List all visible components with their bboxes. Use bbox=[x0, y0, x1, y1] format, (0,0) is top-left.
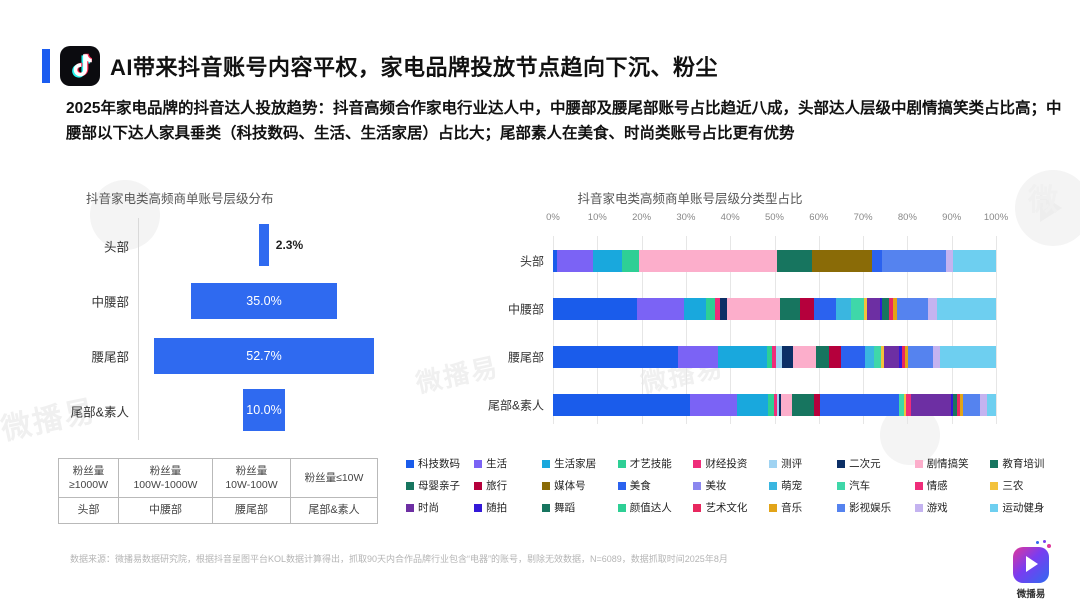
legend-swatch-icon bbox=[542, 460, 550, 468]
stacked-bar-segment[interactable] bbox=[622, 250, 640, 272]
legend-swatch-icon bbox=[837, 504, 845, 512]
left-bar-value-label: 2.3% bbox=[276, 238, 303, 252]
fans-level-cell: 头部 bbox=[59, 498, 119, 524]
legend-item[interactable]: 科技数码 bbox=[406, 456, 474, 471]
legend-label: 生活家居 bbox=[554, 456, 596, 471]
legend-item[interactable]: 旅行 bbox=[474, 478, 542, 493]
stacked-bar-segment[interactable] bbox=[928, 298, 938, 320]
stacked-bar-segment[interactable] bbox=[793, 346, 816, 368]
tiktok-logo-icon bbox=[60, 46, 100, 86]
legend-item[interactable]: 颜值达人 bbox=[618, 500, 694, 515]
fans-level-table: 粉丝量≥1000W粉丝量100W-1000W粉丝量10W-100W粉丝量≤10W… bbox=[58, 458, 378, 524]
left-bar-row: 腰尾部52.7% bbox=[139, 328, 389, 383]
left-chart: 抖音家电类高频商单账号层级分布 头部2.3%中腰部35.0%腰尾部52.7%尾部… bbox=[62, 188, 392, 448]
legend-label: 三农 bbox=[1002, 478, 1023, 493]
legend-label: 科技数码 bbox=[418, 456, 460, 471]
gridline bbox=[996, 236, 997, 424]
left-bar-category-label: 尾部&素人 bbox=[71, 401, 129, 420]
legend-swatch-icon bbox=[837, 460, 845, 468]
stacked-bar-segment[interactable] bbox=[639, 250, 776, 272]
right-chart: 抖音家电类高频商单账号层级分类型占比 0%10%20%30%40%50%60%7… bbox=[390, 188, 1050, 448]
left-bar-value-label: 10.0% bbox=[243, 403, 285, 417]
legend-swatch-icon bbox=[406, 482, 414, 490]
legend-swatch-icon bbox=[915, 504, 923, 512]
stacked-bar-segment[interactable] bbox=[911, 394, 951, 416]
legend-item[interactable]: 舞蹈 bbox=[542, 500, 618, 515]
stacked-bar-segment[interactable] bbox=[872, 250, 882, 272]
legend-item[interactable]: 汽车 bbox=[837, 478, 915, 493]
x-axis-tick-label: 40% bbox=[721, 212, 740, 223]
legend-label: 才艺技能 bbox=[630, 456, 672, 471]
legend-swatch-icon bbox=[915, 460, 923, 468]
stacked-bar-segment[interactable] bbox=[865, 346, 874, 368]
x-axis-tick-label: 70% bbox=[854, 212, 873, 223]
x-axis-tick-label: 90% bbox=[942, 212, 961, 223]
legend-label: 母婴亲子 bbox=[418, 478, 460, 493]
stacked-bar-segment[interactable] bbox=[777, 250, 812, 272]
left-chart-title: 抖音家电类高频商单账号层级分布 bbox=[86, 188, 392, 207]
legend-swatch-icon bbox=[474, 460, 482, 468]
legend-item[interactable]: 财经投资 bbox=[693, 456, 769, 471]
legend-swatch-icon bbox=[769, 482, 777, 490]
x-axis-tick-label: 80% bbox=[898, 212, 917, 223]
legend-swatch-icon bbox=[542, 482, 550, 490]
stacked-bar-segment[interactable] bbox=[798, 394, 814, 416]
stacked-bar-segment[interactable] bbox=[882, 250, 946, 272]
stacked-bar-segment[interactable] bbox=[780, 298, 800, 320]
fans-range-cell: 粉丝量100W-1000W bbox=[118, 459, 212, 498]
stacked-bar-segment[interactable] bbox=[720, 298, 727, 320]
stacked-bar-segment[interactable] bbox=[768, 394, 775, 416]
legend-label: 旅行 bbox=[486, 478, 507, 493]
stacked-bar-segment[interactable] bbox=[867, 298, 880, 320]
left-bar[interactable]: 35.0% bbox=[191, 283, 337, 319]
stacked-bar-segment[interactable] bbox=[706, 298, 715, 320]
stacked-bar-segment[interactable] bbox=[940, 346, 996, 368]
legend-item[interactable]: 二次元 bbox=[837, 456, 915, 471]
legend-item[interactable]: 媒体号 bbox=[542, 478, 618, 493]
legend-swatch-icon bbox=[474, 504, 482, 512]
legend-label: 美妆 bbox=[705, 478, 726, 493]
fans-level-cell: 中腰部 bbox=[118, 498, 212, 524]
left-bar-row: 尾部&素人10.0% bbox=[139, 383, 389, 438]
stacked-bar-row: 尾部&素人 bbox=[553, 394, 996, 416]
left-bar-category-label: 腰尾部 bbox=[91, 346, 129, 365]
fans-range-cell: 粉丝量≤10W bbox=[291, 459, 378, 498]
legend-label: 艺术文化 bbox=[705, 500, 747, 515]
stacked-bar-segment[interactable] bbox=[637, 298, 684, 320]
x-axis-tick-label: 50% bbox=[765, 212, 784, 223]
stacked-bar-segment[interactable] bbox=[851, 298, 864, 320]
legend-label: 测评 bbox=[781, 456, 802, 471]
brand-mark-icon bbox=[1013, 547, 1049, 583]
legend-row: 科技数码生活生活家居才艺技能财经投资测评二次元剧情搞笑教育培训 bbox=[406, 456, 1066, 471]
x-axis-tick-label: 10% bbox=[588, 212, 607, 223]
legend-item[interactable]: 影视娱乐 bbox=[837, 500, 915, 515]
brand-logo: 微播易 bbox=[1000, 547, 1062, 600]
legend-swatch-icon bbox=[406, 504, 414, 512]
stacked-bar-segment[interactable] bbox=[593, 250, 622, 272]
brand-dot bbox=[1047, 544, 1051, 548]
stacked-bar-segment[interactable] bbox=[781, 394, 792, 416]
stacked-bar-category-label: 尾部&素人 bbox=[488, 397, 544, 414]
legend-item[interactable]: 时尚 bbox=[406, 500, 474, 515]
legend-swatch-icon bbox=[618, 504, 626, 512]
legend-label: 随拍 bbox=[486, 500, 507, 515]
stacked-bar-segment[interactable] bbox=[814, 298, 836, 320]
brand-dot bbox=[1043, 540, 1046, 543]
legend-label: 游戏 bbox=[927, 500, 948, 515]
legend-label: 时尚 bbox=[418, 500, 439, 515]
legend-label: 运动健身 bbox=[1002, 500, 1044, 515]
legend-swatch-icon bbox=[693, 460, 701, 468]
left-bar[interactable]: 10.0% bbox=[243, 389, 285, 431]
fans-range-cell: 粉丝量≥1000W bbox=[59, 459, 119, 498]
right-chart-axis: 0%10%20%30%40%50%60%70%80%90%100%头部中腰部腰尾… bbox=[553, 228, 996, 428]
legend-item[interactable]: 教育培训 bbox=[990, 456, 1066, 471]
legend-swatch-icon bbox=[693, 482, 701, 490]
x-axis-tick-label: 100% bbox=[984, 212, 1008, 223]
stacked-bar-segment[interactable] bbox=[841, 346, 865, 368]
left-bar-category-label: 中腰部 bbox=[91, 291, 129, 310]
accent-bar bbox=[42, 49, 50, 83]
table-row: 头部中腰部腰尾部尾部&素人 bbox=[59, 498, 378, 524]
legend-label: 音乐 bbox=[781, 500, 802, 515]
legend-item[interactable]: 萌宠 bbox=[769, 478, 837, 493]
stacked-bar-row: 头部 bbox=[553, 250, 996, 272]
legend-label: 媒体号 bbox=[554, 478, 586, 493]
x-axis-tick-label: 0% bbox=[546, 212, 560, 223]
legend-item[interactable]: 三农 bbox=[990, 478, 1066, 493]
legend-item[interactable]: 测评 bbox=[769, 456, 837, 471]
stacked-bar-category-label: 头部 bbox=[520, 253, 544, 270]
stacked-bar-segment[interactable] bbox=[874, 346, 881, 368]
stacked-bar-segment[interactable] bbox=[987, 394, 996, 416]
slide-canvas: 微 微播易 微播易 微播易 AI带来抖音账号内容平权，家电品牌投放节点趋向下沉、… bbox=[0, 0, 1080, 608]
left-bar[interactable]: 52.7% bbox=[154, 338, 374, 374]
left-bar-value-label: 35.0% bbox=[191, 294, 337, 308]
legend-label: 美食 bbox=[630, 478, 651, 493]
legend-label: 影视娱乐 bbox=[849, 500, 891, 515]
stacked-bar-segment[interactable] bbox=[553, 394, 690, 416]
stacked-bar-segment[interactable] bbox=[963, 394, 981, 416]
stacked-bar-segment[interactable] bbox=[792, 394, 799, 416]
legend-swatch-icon bbox=[769, 504, 777, 512]
legend-label: 二次元 bbox=[849, 456, 881, 471]
stacked-bar-segment[interactable] bbox=[800, 298, 814, 320]
left-bar-row: 头部2.3% bbox=[139, 218, 389, 273]
legend-item[interactable]: 情感 bbox=[915, 478, 991, 493]
stacked-bar-segment[interactable] bbox=[836, 298, 850, 320]
legend-item[interactable]: 音乐 bbox=[769, 500, 837, 515]
brand-dot bbox=[1036, 541, 1039, 544]
play-icon bbox=[1026, 556, 1038, 572]
legend-swatch-icon bbox=[769, 460, 777, 468]
fans-level-cell: 尾部&素人 bbox=[291, 498, 378, 524]
stacked-bar-segment[interactable] bbox=[776, 346, 783, 368]
legend-item[interactable]: 母婴亲子 bbox=[406, 478, 474, 493]
page-title: AI带来抖音账号内容平权，家电品牌投放节点趋向下沉、粉尘 bbox=[110, 50, 718, 82]
stacked-bar-segment[interactable] bbox=[937, 298, 995, 320]
legend-item[interactable]: 随拍 bbox=[474, 500, 542, 515]
legend-swatch-icon bbox=[990, 504, 998, 512]
stacked-bar-segment[interactable] bbox=[782, 346, 793, 368]
left-chart-plot: 头部2.3%中腰部35.0%腰尾部52.7%尾部&素人10.0% bbox=[138, 218, 388, 440]
stacked-bar-segment[interactable] bbox=[816, 346, 829, 368]
page-subtitle: 2025年家电品牌的抖音达人投放趋势：抖音高频合作家电行业达人中，中腰部及腰尾部… bbox=[66, 96, 1066, 146]
legend-row: 母婴亲子旅行媒体号美食美妆萌宠汽车情感三农 bbox=[406, 478, 1066, 493]
legend-item[interactable]: 才艺技能 bbox=[618, 456, 694, 471]
stacked-bar-segment[interactable] bbox=[933, 346, 941, 368]
stacked-bar-segment[interactable] bbox=[953, 250, 996, 272]
stacked-bar-segment[interactable] bbox=[812, 250, 872, 272]
legend-item[interactable]: 剧情搞笑 bbox=[915, 456, 991, 471]
legend-swatch-icon bbox=[474, 482, 482, 490]
stacked-bar-row: 中腰部 bbox=[553, 298, 996, 320]
stacked-bar-segment[interactable] bbox=[727, 298, 780, 320]
legend-label: 生活 bbox=[486, 456, 507, 471]
legend-swatch-icon bbox=[542, 504, 550, 512]
stacked-bar-segment[interactable] bbox=[684, 298, 706, 320]
legend-label: 情感 bbox=[927, 478, 948, 493]
stacked-bar-segment[interactable] bbox=[897, 298, 928, 320]
legend-item[interactable]: 艺术文化 bbox=[693, 500, 769, 515]
stacked-bar-segment[interactable] bbox=[718, 346, 767, 368]
left-bar-category-label: 头部 bbox=[104, 236, 129, 255]
stacked-bar-segment[interactable] bbox=[553, 298, 637, 320]
stacked-bar-segment[interactable] bbox=[820, 394, 900, 416]
stacked-bar-segment[interactable] bbox=[908, 346, 932, 368]
left-bar-row: 中腰部35.0% bbox=[139, 273, 389, 328]
stacked-bar-segment[interactable] bbox=[690, 394, 737, 416]
fans-range-cell: 粉丝量10W-100W bbox=[212, 459, 290, 498]
legend-item[interactable]: 美食 bbox=[618, 478, 694, 493]
legend-swatch-icon bbox=[915, 482, 923, 490]
right-chart-title: 抖音家电类高频商单账号层级分类型占比 bbox=[390, 188, 990, 207]
x-axis-tick-label: 60% bbox=[809, 212, 828, 223]
x-axis-tick-label: 30% bbox=[676, 212, 695, 223]
brand-name: 微播易 bbox=[1000, 586, 1062, 600]
stacked-bar-segment[interactable] bbox=[737, 394, 768, 416]
legend-swatch-icon bbox=[990, 482, 998, 490]
legend-swatch-icon bbox=[693, 504, 701, 512]
left-bar-value-label: 52.7% bbox=[154, 349, 374, 363]
legend-item[interactable]: 美妆 bbox=[693, 478, 769, 493]
legend-label: 萌宠 bbox=[781, 478, 802, 493]
legend-label: 舞蹈 bbox=[554, 500, 575, 515]
legend-swatch-icon bbox=[990, 460, 998, 468]
stacked-bar-segment[interactable] bbox=[884, 346, 899, 368]
legend-swatch-icon bbox=[618, 460, 626, 468]
legend-item[interactable]: 生活 bbox=[474, 456, 542, 471]
stacked-bar-segment[interactable] bbox=[678, 346, 718, 368]
legend-swatch-icon bbox=[618, 482, 626, 490]
legend-item[interactable]: 运动健身 bbox=[990, 500, 1066, 515]
stacked-bar-row: 腰尾部 bbox=[553, 346, 996, 368]
legend-label: 汽车 bbox=[849, 478, 870, 493]
fans-level-cell: 腰尾部 bbox=[212, 498, 290, 524]
legend-label: 剧情搞笑 bbox=[927, 456, 969, 471]
stacked-bar-segment[interactable] bbox=[980, 394, 987, 416]
chart-legend: 科技数码生活生活家居才艺技能财经投资测评二次元剧情搞笑教育培训母婴亲子旅行媒体号… bbox=[406, 456, 1066, 522]
table-row: 粉丝量≥1000W粉丝量100W-1000W粉丝量10W-100W粉丝量≤10W bbox=[59, 459, 378, 498]
stacked-bar-segment[interactable] bbox=[829, 346, 841, 368]
legend-label: 财经投资 bbox=[705, 456, 747, 471]
legend-item[interactable]: 游戏 bbox=[915, 500, 991, 515]
legend-label: 教育培训 bbox=[1002, 456, 1044, 471]
footnote: 数据来源：微播易数据研究院，根据抖音星图平台KOL数据计算得出，抓取90天内合作… bbox=[70, 552, 728, 565]
stacked-bar-segment[interactable] bbox=[557, 250, 592, 272]
right-chart-plot: 0%10%20%30%40%50%60%70%80%90%100%头部中腰部腰尾… bbox=[408, 228, 998, 428]
stacked-bar-category-label: 中腰部 bbox=[508, 301, 544, 318]
x-axis-tick-label: 20% bbox=[632, 212, 651, 223]
legend-row: 时尚随拍舞蹈颜值达人艺术文化音乐影视娱乐游戏运动健身 bbox=[406, 500, 1066, 515]
slide-header: AI带来抖音账号内容平权，家电品牌投放节点趋向下沉、粉尘 bbox=[42, 46, 718, 86]
legend-swatch-icon bbox=[406, 460, 414, 468]
stacked-bar-segment[interactable] bbox=[553, 346, 678, 368]
legend-swatch-icon bbox=[837, 482, 845, 490]
left-bar[interactable]: 2.3% bbox=[259, 224, 269, 266]
stacked-bar-category-label: 腰尾部 bbox=[508, 349, 544, 366]
stacked-bar-segment[interactable] bbox=[946, 250, 953, 272]
legend-label: 颜值达人 bbox=[630, 500, 672, 515]
legend-item[interactable]: 生活家居 bbox=[542, 456, 618, 471]
